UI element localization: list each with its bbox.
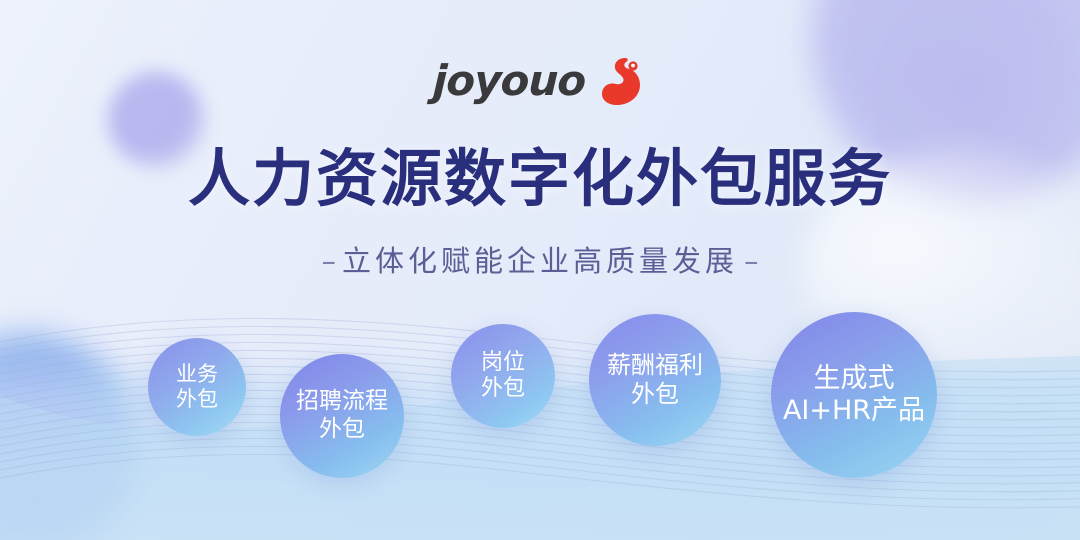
service-bubble-line2: 外包 [176, 387, 218, 412]
service-bubble-line2: 外包 [481, 376, 525, 402]
page-subtitle: –立体化赋能企业高质量发展– [0, 238, 1080, 280]
service-bubble-line1: 招聘流程 [296, 388, 388, 416]
service-bubble-line1: 薪酬福利 [607, 351, 703, 380]
service-bubble-line1: 生成式 [814, 363, 895, 395]
service-bubble-business-outsourcing[interactable]: 业务 外包 [148, 338, 246, 436]
subtitle-dash-left: – [315, 244, 342, 278]
decorative-blob-bottom-left [0, 330, 140, 540]
service-bubble-line1: 业务 [176, 362, 218, 387]
page-title: 人力资源数字化外包服务 [0, 146, 1080, 213]
service-bubble-position-outsourcing[interactable]: 岗位 外包 [451, 324, 555, 428]
service-bubble-line2: 外包 [631, 380, 679, 409]
brand-wordmark: joyouo [432, 60, 586, 102]
service-bubble-line1: 岗位 [481, 350, 525, 376]
red-droplet-person-icon [599, 56, 647, 106]
subtitle-dash-right: – [738, 244, 765, 278]
brand-logo: joyouo [0, 52, 1080, 110]
service-bubble-line2: 外包 [319, 416, 365, 444]
hr-outsourcing-banner: joyouo 人力资源数字化外包服务 –立体化赋能企业高质量发展– 业务 外包 … [0, 0, 1080, 540]
service-bubble-recruitment-process-outsourcing[interactable]: 招聘流程 外包 [280, 354, 404, 478]
service-bubble-compensation-benefits-outsourcing[interactable]: 薪酬福利 外包 [589, 314, 721, 446]
service-bubble-line2: AI+HR产品 [783, 395, 925, 427]
subtitle-text: 立体化赋能企业高质量发展 [342, 244, 738, 278]
service-bubble-generative-ai-hr-product[interactable]: 生成式 AI+HR产品 [771, 312, 937, 478]
